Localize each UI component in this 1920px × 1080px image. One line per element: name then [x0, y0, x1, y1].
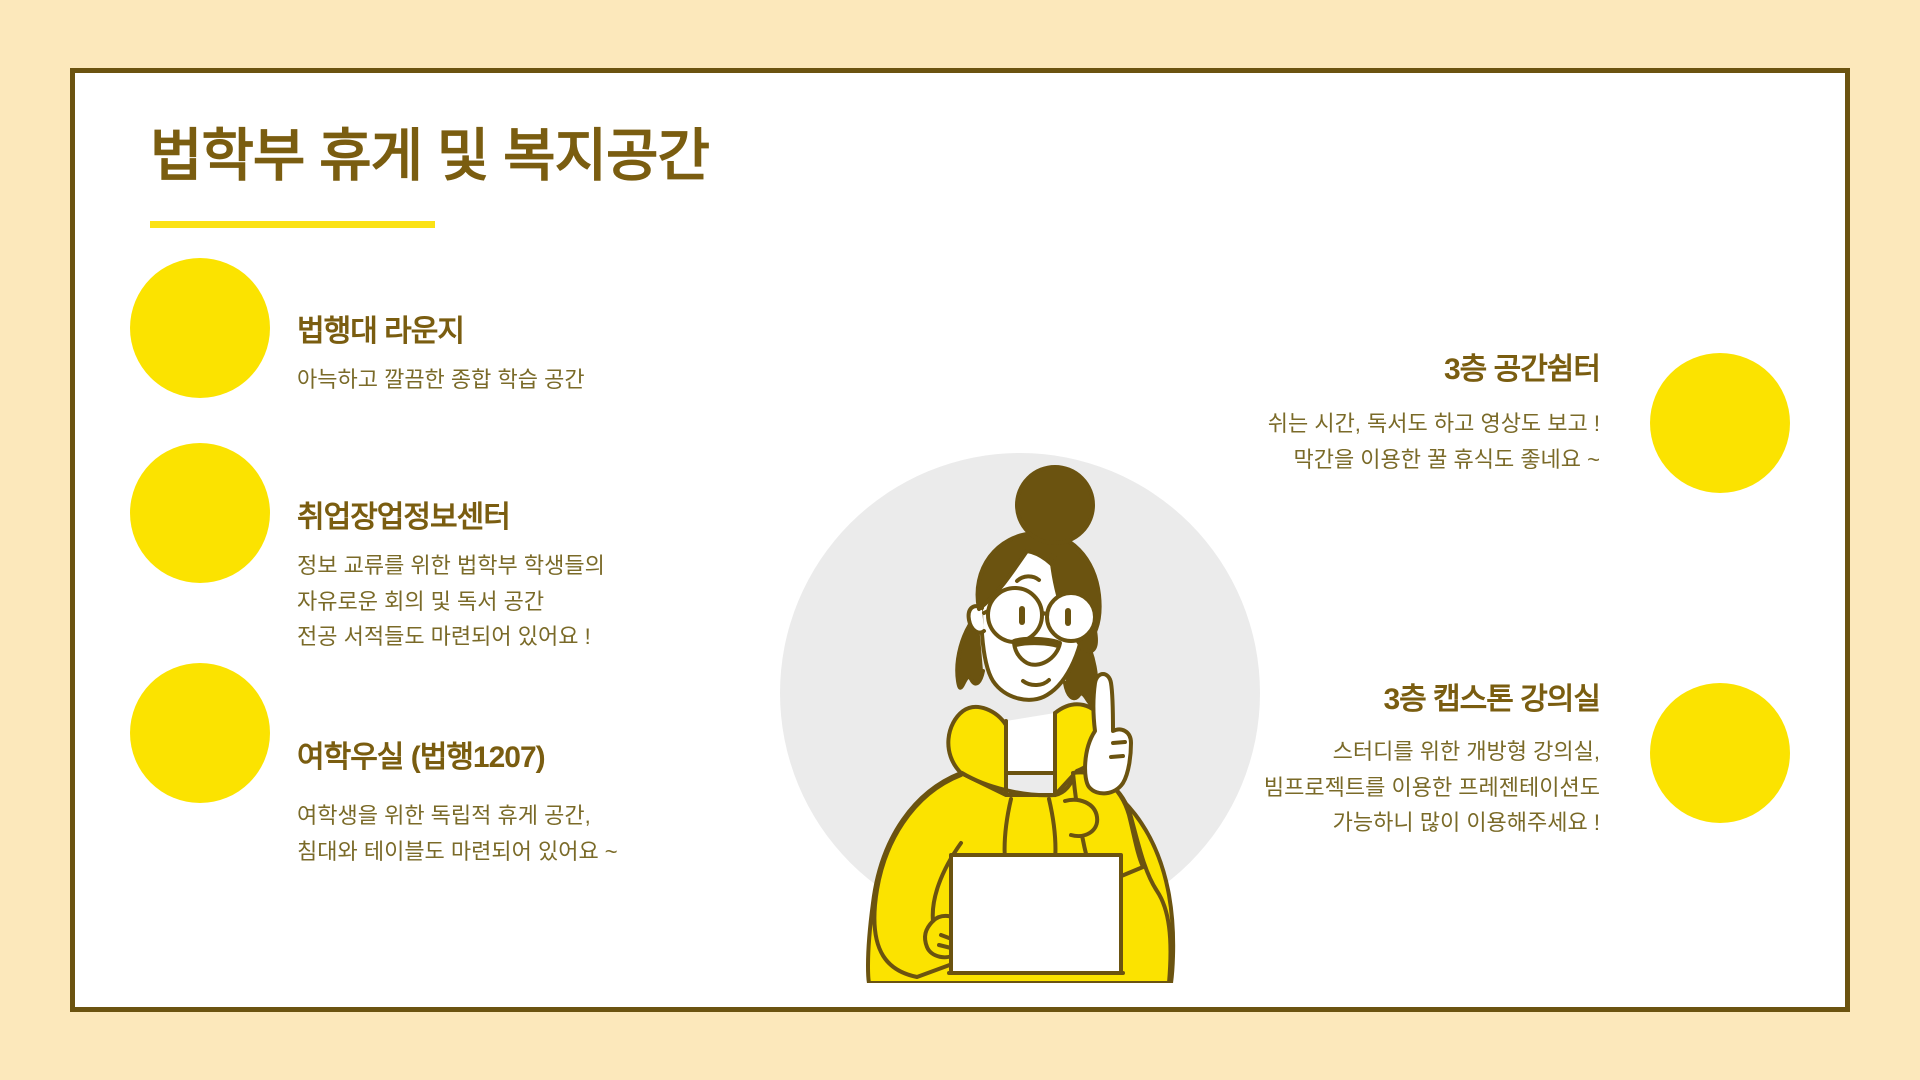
glasses-bridge — [1042, 613, 1047, 614]
mouth-teeth — [1016, 642, 1058, 645]
neck — [1006, 713, 1055, 773]
title-block: 법학부 휴게 및 복지공간 — [150, 128, 709, 228]
facility-title: 3층 캡스톤 강의실 — [1264, 683, 1600, 716]
woman-with-laptop-illustration — [765, 443, 1275, 983]
facility-description: 정보 교류를 위한 법학부 학생들의 자유로운 회의 및 독서 공간 전공 서적… — [297, 548, 605, 655]
facility-description: 쉬는 시간, 독서도 하고 영상도 보고 ! 막간을 이용한 꿀 휴식도 좋네요… — [1268, 406, 1600, 477]
desc-line: 아늑하고 깔끔한 종합 학습 공간 — [297, 362, 585, 398]
facility-title: 3층 공간쉼터 — [1268, 353, 1600, 386]
hand-knuckle-2 — [1111, 756, 1123, 757]
facility-title: 여학우실 (법행1207) — [297, 741, 618, 774]
desc-line: 정보 교류를 위한 법학부 학생들의 — [297, 548, 605, 584]
desc-line: 전공 서적들도 마련되어 있어요 ! — [297, 619, 605, 655]
facility-title: 취업장업정보센터 — [297, 501, 605, 534]
laptop-screen — [951, 855, 1121, 973]
desc-line: 가능하니 많이 이용해주세요 ! — [1264, 805, 1600, 841]
hand-knuckle-1 — [1113, 742, 1125, 743]
bullet-dot-left-3 — [130, 663, 270, 803]
bullet-dot-right-1 — [1650, 353, 1790, 493]
bullet-dot-left-1 — [130, 258, 270, 398]
hair-bun — [1017, 467, 1093, 543]
facility-description: 스터디를 위한 개방형 강의실, 빔프로젝트를 이용한 프레젠테이션도 가능하니… — [1264, 734, 1600, 841]
illustration-svg — [765, 443, 1275, 983]
facility-item-3f-capstone-room: 3층 캡스톤 강의실 스터디를 위한 개방형 강의실, 빔프로젝트를 이용한 프… — [1264, 683, 1600, 841]
facility-item-womens-room: 여학우실 (법행1207) 여학생을 위한 독립적 휴게 공간, 침대와 테이블… — [297, 741, 618, 869]
facility-description: 여학생을 위한 독립적 휴게 공간, 침대와 테이블도 마련되어 있어요 ~ — [297, 798, 618, 869]
facility-title: 법행대 라운지 — [297, 315, 585, 348]
desc-line: 빔프로젝트를 이용한 프레젠테이션도 — [1264, 770, 1600, 806]
facility-item-lounge: 법행대 라운지 아늑하고 깔끔한 종합 학습 공간 — [297, 315, 585, 398]
facility-item-career-center: 취업장업정보센터 정보 교류를 위한 법학부 학생들의 자유로운 회의 및 독서… — [297, 501, 605, 655]
bullet-dot-right-2 — [1650, 683, 1790, 823]
glasses-temple — [984, 611, 988, 613]
title-underline-rule — [150, 221, 435, 228]
page-title: 법학부 휴게 및 복지공간 — [150, 128, 709, 185]
desc-line: 쉬는 시간, 독서도 하고 영상도 보고 ! — [1268, 406, 1600, 442]
bullet-dot-left-2 — [130, 443, 270, 583]
ear — [969, 606, 984, 632]
glasses-left-lens — [988, 588, 1042, 642]
desc-line: 여학생을 위한 독립적 휴게 공간, — [297, 798, 618, 834]
desc-line: 자유로운 회의 및 독서 공간 — [297, 584, 605, 620]
facility-description: 아늑하고 깔끔한 종합 학습 공간 — [297, 362, 585, 398]
desc-line: 침대와 테이블도 마련되어 있어요 ~ — [297, 834, 618, 870]
desc-line: 막간을 이용한 꿀 휴식도 좋네요 ~ — [1268, 442, 1600, 478]
desc-line: 스터디를 위한 개방형 강의실, — [1264, 734, 1600, 770]
slide-canvas: 법학부 휴게 및 복지공간 법행대 라운지 아늑하고 깔끔한 종합 학습 공간 … — [0, 0, 1920, 1080]
facility-item-3f-rest-area: 3층 공간쉼터 쉬는 시간, 독서도 하고 영상도 보고 ! 막간을 이용한 꿀… — [1268, 353, 1600, 477]
slide-card: 법학부 휴게 및 복지공간 법행대 라운지 아늑하고 깔끔한 종합 학습 공간 … — [70, 68, 1850, 1012]
